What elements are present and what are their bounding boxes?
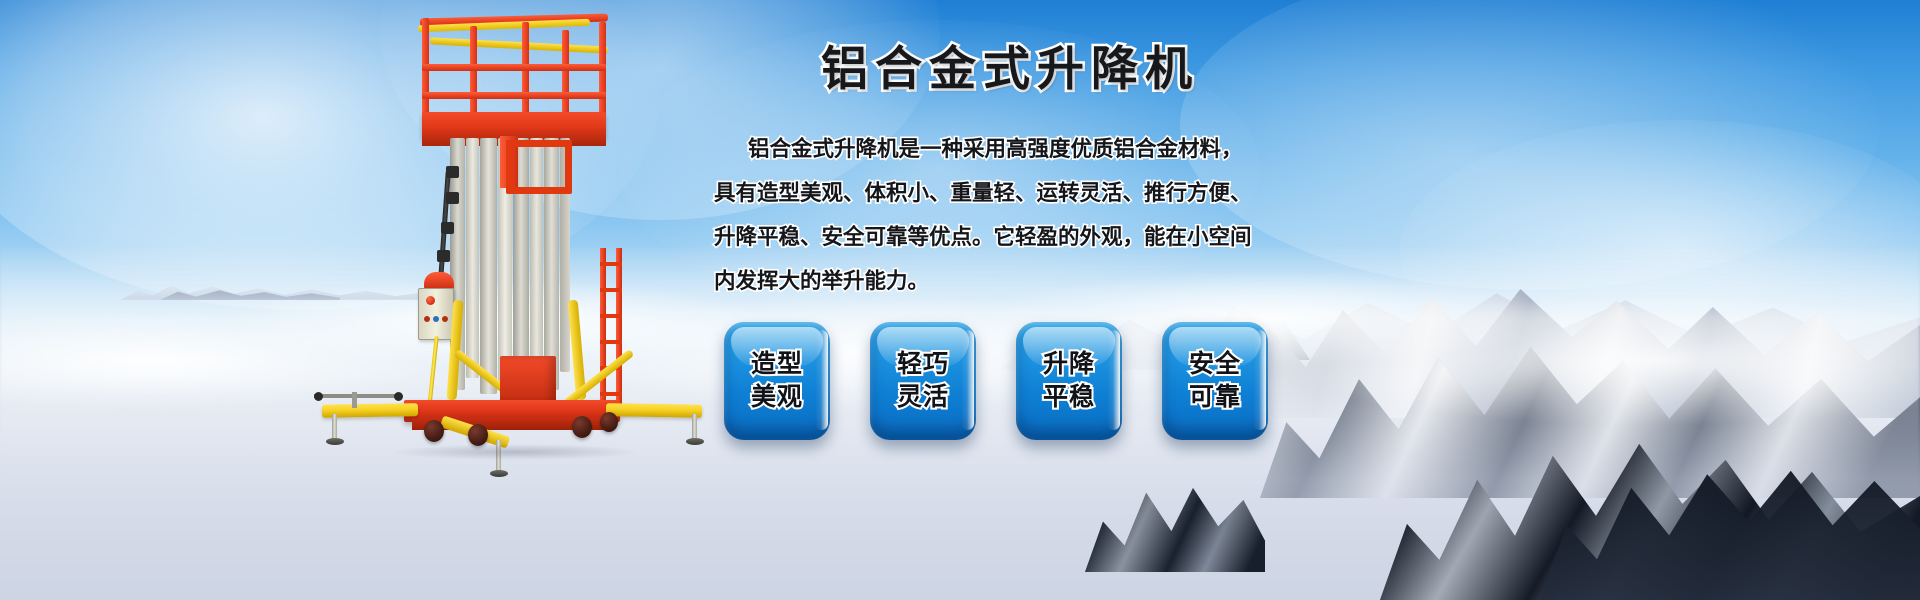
control-switch: [442, 316, 448, 322]
ladder-rung: [600, 314, 622, 318]
mast-bracket: [506, 140, 572, 194]
feature-badge-label: 轻巧 灵活: [897, 348, 949, 414]
feature-badge-line-1: 升降: [1043, 348, 1095, 381]
product-image-aluminium-lift: [300, 0, 720, 600]
control-box: [418, 288, 454, 340]
feature-badge-line-1: 造型: [751, 348, 803, 381]
stabilizer-foot: [326, 438, 344, 445]
cage-top-rail-yellow: [430, 37, 608, 53]
feature-badge-line-1: 安全: [1189, 348, 1241, 381]
ground-shadow: [390, 444, 640, 460]
feature-badge-smooth-lift[interactable]: 升降 平稳: [1016, 322, 1122, 440]
description-line-4: 内发挥大的举升能力。: [714, 259, 1314, 303]
banner-title: 铝合金式升降机: [700, 40, 1320, 99]
counterweight-block: [500, 356, 556, 404]
feature-badge-line-2: 美观: [751, 381, 803, 414]
cage-mid-rail: [422, 92, 606, 99]
stabilizer-jack: [332, 414, 337, 440]
hose-clamp: [437, 250, 450, 262]
feature-badge-appearance[interactable]: 造型 美观: [724, 322, 830, 440]
banner-description: 铝合金式升降机是一种采用高强度优质铝合金材料， 具有造型美观、体积小、重量轻、运…: [700, 127, 1320, 303]
feature-badge-label: 安全 可靠: [1189, 348, 1241, 414]
hose-clamp: [441, 222, 454, 234]
outrigger-handle-bar: [314, 394, 400, 398]
stabilizer-jack: [692, 414, 697, 440]
outrigger-arm-right: [606, 403, 702, 418]
feature-badge-label: 升降 平稳: [1043, 348, 1095, 414]
description-line-2: 具有造型美观、体积小、重量轻、运转灵活、推行方便、: [714, 171, 1314, 215]
feature-badge-line-2: 平稳: [1043, 381, 1095, 414]
caster-wheel: [468, 424, 488, 446]
feature-badge-safety[interactable]: 安全 可靠: [1162, 322, 1268, 440]
caster-wheel: [572, 416, 592, 438]
ladder-rung: [600, 288, 622, 292]
feature-badge-line-2: 可靠: [1189, 381, 1241, 414]
caster-wheel: [600, 412, 618, 432]
description-line-1: 铝合金式升降机是一种采用高强度优质铝合金材料，: [714, 127, 1314, 171]
hose-clamp: [446, 192, 459, 204]
caster-wheel: [424, 420, 444, 442]
ladder-rung: [600, 392, 622, 396]
outrigger-handle-stem: [352, 392, 357, 408]
feature-badge-lightweight[interactable]: 轻巧 灵活: [870, 322, 976, 440]
hose-clamp: [446, 166, 459, 178]
description-line-3: 升降平稳、安全可靠等优点。它轻盈的外观，能在小空间: [714, 215, 1314, 259]
feature-badge-list: 造型 美观 轻巧 灵活 升降 平稳 安全 可靠: [724, 322, 1268, 440]
feature-badge-label: 造型 美观: [751, 348, 803, 414]
stabilizer-foot: [686, 438, 704, 445]
banner-text-block: 铝合金式升降机 铝合金式升降机是一种采用高强度优质铝合金材料， 具有造型美观、体…: [700, 40, 1320, 303]
feature-badge-line-2: 灵活: [897, 381, 949, 414]
ladder-rail: [616, 248, 622, 404]
cage-mid-rail: [422, 64, 606, 71]
outrigger-handle-knob: [394, 392, 403, 401]
control-switch: [424, 316, 430, 322]
stabilizer-foot: [490, 470, 508, 477]
control-cable: [427, 336, 439, 408]
feature-badge-line-1: 轻巧: [897, 348, 949, 381]
outrigger-handle-knob: [314, 392, 323, 401]
ladder-rung: [600, 262, 622, 266]
ladder-rung: [600, 340, 622, 344]
emergency-stop-button: [426, 296, 435, 305]
control-switch: [433, 316, 439, 322]
mast-column: [480, 138, 497, 394]
mast-column: [466, 138, 479, 378]
product-banner: 铝合金式升降机 铝合金式升降机是一种采用高强度优质铝合金材料， 具有造型美观、体…: [0, 0, 1920, 600]
